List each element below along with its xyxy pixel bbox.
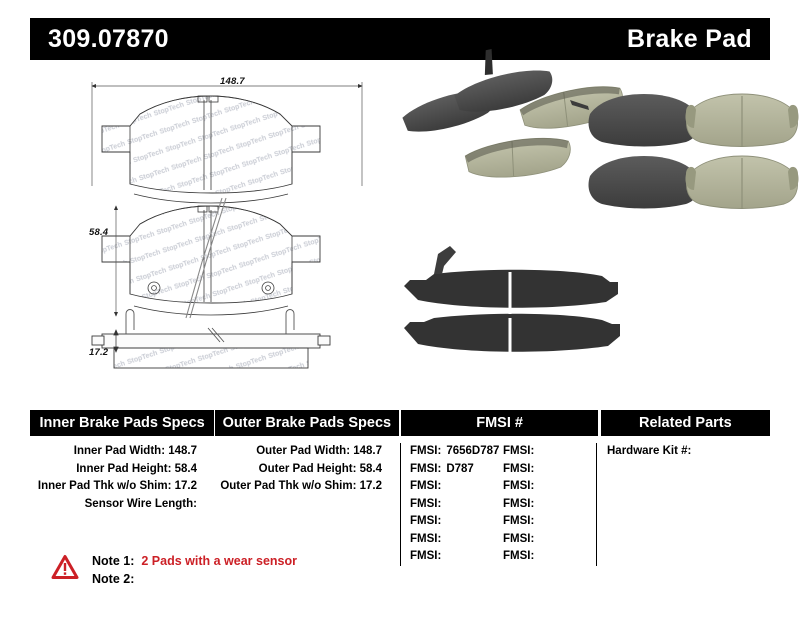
- fmsi-value: [534, 533, 539, 545]
- fmsi-value: [441, 550, 446, 562]
- table-header-related-parts: Related Parts: [601, 410, 770, 436]
- brake-pad-photos: [390, 66, 770, 386]
- fmsi-label: FMSI:: [503, 515, 534, 527]
- fmsi-value: D787: [441, 463, 474, 475]
- fmsi-label: FMSI:: [503, 480, 534, 492]
- fmsi-label: FMSI:: [410, 463, 441, 475]
- inner-specs-column: Inner Pad Width: 148.7 Inner Pad Height:…: [30, 443, 215, 566]
- fmsi-value: [441, 498, 446, 510]
- fmsi-label: FMSI:: [410, 480, 441, 492]
- fmsi-column: FMSI:7656D787 FMSI:D787 FMSI: FMSI: FMSI…: [400, 443, 597, 566]
- specifications-table: Inner Brake Pads Specs Outer Brake Pads …: [30, 410, 770, 566]
- inner-spec-sensor-wire-length: Sensor Wire Length:: [30, 496, 215, 514]
- fmsi-label: FMSI:: [410, 533, 441, 545]
- pad-line-drawings: StopTech: [30, 66, 390, 386]
- product-photos-panel: [390, 66, 770, 386]
- fmsi-subcolumn-right: FMSI: FMSI: FMSI: FMSI: FMSI: FMSI: FMSI…: [503, 443, 596, 566]
- table-header-row: Inner Brake Pads Specs Outer Brake Pads …: [30, 410, 770, 436]
- dimension-label-width: 148.7: [220, 76, 245, 87]
- note-2-value: [134, 572, 141, 586]
- inner-spec-width: Inner Pad Width: 148.7: [30, 443, 215, 461]
- fmsi-value: [534, 550, 539, 562]
- fmsi-subcolumn-left: FMSI:7656D787 FMSI:D787 FMSI: FMSI: FMSI…: [410, 443, 503, 566]
- fmsi-value: [534, 515, 539, 527]
- fmsi-value: [441, 515, 446, 527]
- fmsi-label: FMSI:: [503, 533, 534, 545]
- notes-text-block: Note 1:2 Pads with a wear sensor Note 2:: [92, 552, 297, 588]
- fmsi-row: FMSI:D787: [410, 461, 503, 479]
- fmsi-value: [534, 480, 539, 492]
- fmsi-row: FMSI:: [410, 513, 503, 531]
- fmsi-label: FMSI:: [410, 515, 441, 527]
- related-parts-column: Hardware Kit #:: [597, 443, 767, 566]
- outer-spec-width: Outer Pad Width: 148.7: [215, 443, 400, 461]
- dimension-label-thickness: 17.2: [89, 347, 108, 358]
- fmsi-row: FMSI:: [410, 478, 503, 496]
- pad-view-edge: [92, 334, 330, 348]
- title-bar: 309.07870 Brake Pad: [30, 18, 770, 60]
- fmsi-row: FMSI:: [410, 531, 503, 549]
- fmsi-label: FMSI:: [503, 463, 534, 475]
- fmsi-value: 7656D787: [441, 445, 499, 457]
- photo-flat-pad-set: [570, 94, 799, 209]
- table-header-outer-specs: Outer Brake Pads Specs: [214, 410, 398, 436]
- fmsi-row: FMSI:: [503, 531, 596, 549]
- notes-section: Note 1:2 Pads with a wear sensor Note 2:: [52, 552, 297, 588]
- inner-spec-height: Inner Pad Height: 58.4: [30, 461, 215, 479]
- dimension-label-height: 58.4: [89, 227, 108, 238]
- fmsi-value: [534, 445, 539, 457]
- fmsi-label: FMSI:: [410, 445, 441, 457]
- fmsi-row: FMSI:: [410, 548, 503, 566]
- fmsi-row: FMSI:: [503, 461, 596, 479]
- fmsi-value: [534, 498, 539, 510]
- fmsi-value: [441, 533, 446, 545]
- fmsi-row: FMSI:: [503, 478, 596, 496]
- fmsi-row: FMSI:: [503, 496, 596, 514]
- fmsi-row: FMSI:: [503, 513, 596, 531]
- fmsi-row: FMSI:: [503, 443, 596, 461]
- note-1-label: Note 1:: [92, 554, 134, 568]
- product-type-title: Brake Pad: [627, 25, 752, 54]
- outer-spec-thickness: Outer Pad Thk w/o Shim: 17.2: [215, 478, 400, 496]
- fmsi-row: FMSI:7656D787: [410, 443, 503, 461]
- warning-triangle-icon: [52, 555, 78, 579]
- note-2-row: Note 2:: [92, 570, 297, 588]
- inner-spec-thickness: Inner Pad Thk w/o Shim: 17.2: [30, 478, 215, 496]
- outer-spec-height: Outer Pad Height: 58.4: [215, 461, 400, 479]
- fmsi-value: [534, 463, 539, 475]
- photo-edge-pad-pair: [404, 246, 620, 356]
- fmsi-label: FMSI:: [503, 445, 534, 457]
- table-header-fmsi: FMSI #: [401, 410, 597, 436]
- table-body-row: Inner Pad Width: 148.7 Inner Pad Height:…: [30, 443, 770, 566]
- part-number: 309.07870: [48, 25, 169, 54]
- outer-specs-column: Outer Pad Width: 148.7 Outer Pad Height:…: [215, 443, 400, 566]
- related-part-hardware-kit: Hardware Kit #:: [597, 443, 767, 461]
- fmsi-row: FMSI:: [410, 496, 503, 514]
- note-1-value: 2 Pads with a wear sensor: [134, 554, 297, 568]
- table-header-inner-specs: Inner Brake Pads Specs: [30, 410, 214, 436]
- note-2-label: Note 2:: [92, 572, 134, 586]
- fmsi-label: FMSI:: [410, 498, 441, 510]
- fmsi-label: FMSI:: [503, 550, 534, 562]
- technical-drawings-panel: 148.7 58.4 17.2 StopTech: [30, 66, 390, 386]
- fmsi-value: [441, 480, 446, 492]
- fmsi-label: FMSI:: [410, 550, 441, 562]
- note-1-row: Note 1:2 Pads with a wear sensor: [92, 552, 297, 570]
- fmsi-row: FMSI:: [503, 548, 596, 566]
- fmsi-label: FMSI:: [503, 498, 534, 510]
